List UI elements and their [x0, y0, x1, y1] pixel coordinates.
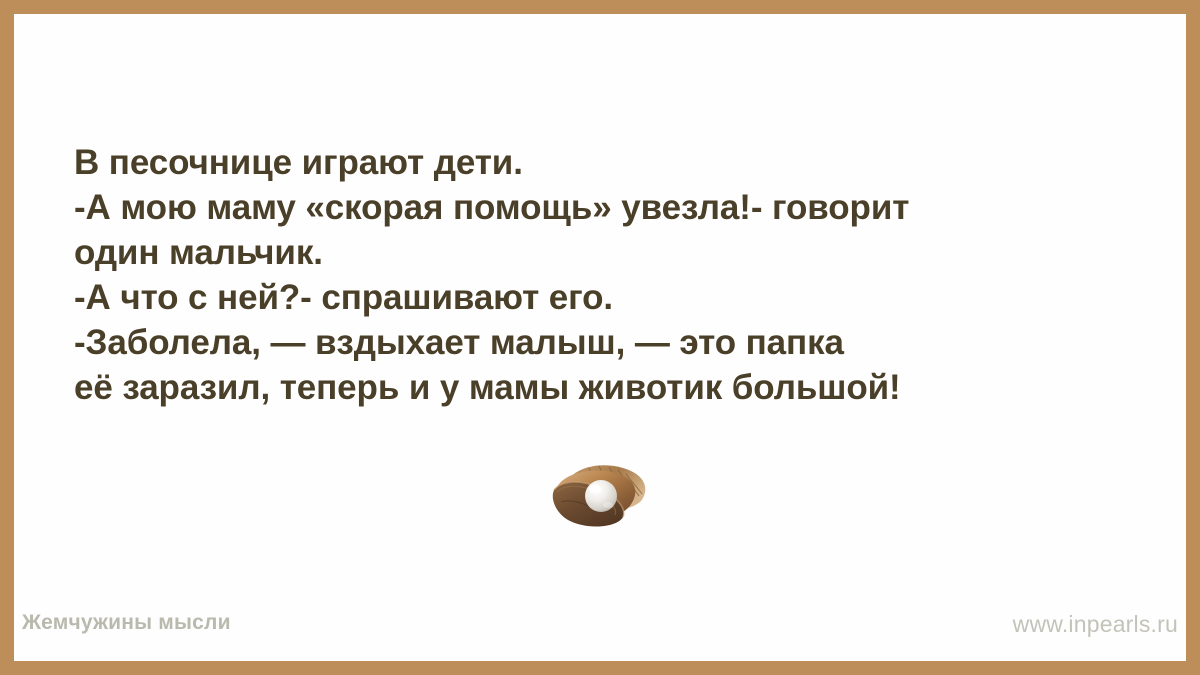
quote-card: В песочнице играют дети. -А мою маму «ск…: [0, 0, 1200, 675]
quote-text-block: В песочнице играют дети. -А мою маму «ск…: [74, 140, 1154, 410]
pearl-in-shell-icon: [545, 454, 655, 534]
site-name: Жемчужины мысли: [22, 611, 231, 635]
quote-line: В песочнице играют дети.: [74, 140, 1154, 185]
emblem-container: [14, 454, 1186, 534]
quote-line: один мальчик.: [74, 230, 1154, 275]
site-url[interactable]: www.inpearls.ru: [1013, 611, 1178, 638]
footer: Жемчужины мысли www.inpearls.ru: [14, 611, 1186, 641]
quote-line: -А мою маму «скорая помощь» увезла!- гов…: [74, 185, 1154, 230]
quote-line: -А что с ней?- спрашивают его.: [74, 275, 1154, 320]
quote-line: -Заболела, — вздыхает малыш, — это папка: [74, 320, 1154, 365]
quote-line: её заразил, теперь и у мамы животик боль…: [74, 365, 1154, 410]
card-inner: В песочнице играют дети. -А мою маму «ск…: [14, 14, 1186, 661]
